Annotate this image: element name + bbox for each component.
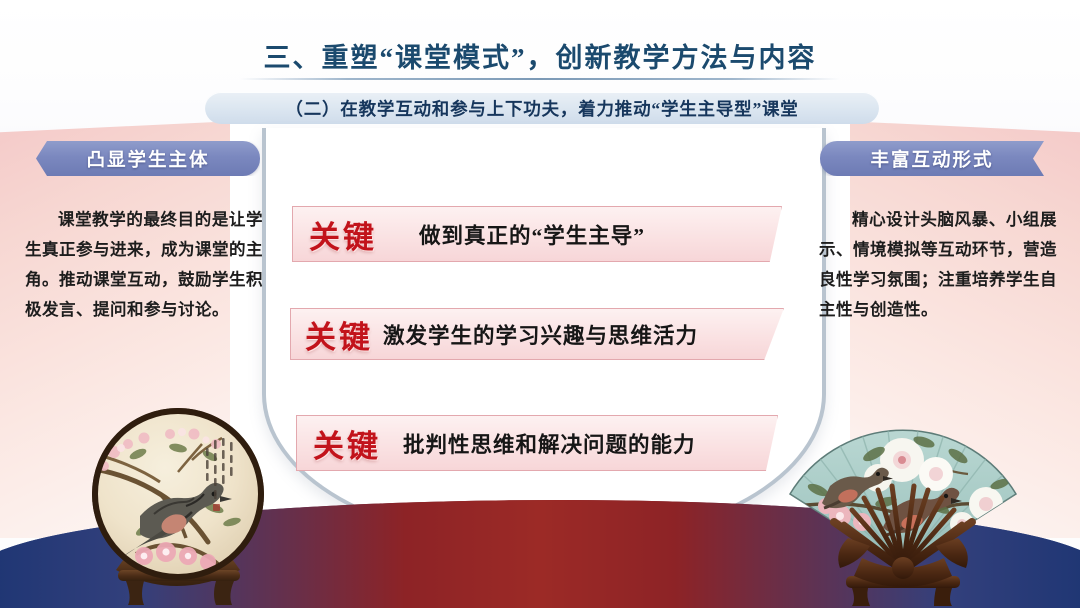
key-row[interactable]: 关键 激发学生的学习兴趣与思维活力 bbox=[290, 308, 784, 360]
right-panel-pill[interactable]: 丰富互动形式 bbox=[820, 141, 1044, 176]
left-panel-body: 课堂教学的最终目的是让学生真正参与进来，成为课堂的主角。推动课堂互动，鼓励学生积… bbox=[25, 205, 263, 325]
left-panel-pill[interactable]: 凸显学生主体 bbox=[36, 141, 260, 176]
plate-svg bbox=[82, 404, 302, 608]
bird-blossom-folding-fan-icon bbox=[778, 398, 1028, 608]
key-row-text: 批判性思维和解决问题的能力 bbox=[403, 428, 696, 459]
right-panel-pill-label: 丰富互动形式 bbox=[870, 146, 993, 172]
key-row[interactable]: 关键 批判性思维和解决问题的能力 bbox=[296, 415, 778, 471]
left-panel-pill-label: 凸显学生主体 bbox=[86, 146, 209, 172]
page-title: 三、重塑“课堂模式”，创新教学方法与内容 bbox=[0, 36, 1080, 75]
key-row-tag: 关键 bbox=[313, 421, 381, 466]
key-row[interactable]: 关键 做到真正的“学生主导” bbox=[292, 206, 782, 262]
key-row-tag: 关键 bbox=[309, 212, 377, 257]
key-row-text: 做到真正的“学生主导” bbox=[419, 219, 645, 250]
key-row-tag: 关键 bbox=[305, 312, 373, 357]
slide-canvas: 三、重塑“课堂模式”，创新教学方法与内容 （二）在教学互动和参与上下功夫，着力推… bbox=[0, 0, 1080, 608]
subtitle-text: （二）在教学互动和参与上下功夫，着力推动“学生主导型”课堂 bbox=[285, 96, 798, 121]
bird-blossom-porcelain-plate-icon bbox=[82, 404, 302, 608]
subtitle-banner: （二）在教学互动和参与上下功夫，着力推动“学生主导型”课堂 bbox=[205, 92, 879, 124]
right-panel-body: 精心设计头脑风暴、小组展示、情境模拟等互动环节，营造良性学习氛围；注重培养学生自… bbox=[819, 205, 1057, 325]
fan-svg bbox=[778, 398, 1028, 608]
title-divider bbox=[240, 78, 840, 80]
key-row-text: 激发学生的学习兴趣与思维活力 bbox=[383, 319, 698, 350]
